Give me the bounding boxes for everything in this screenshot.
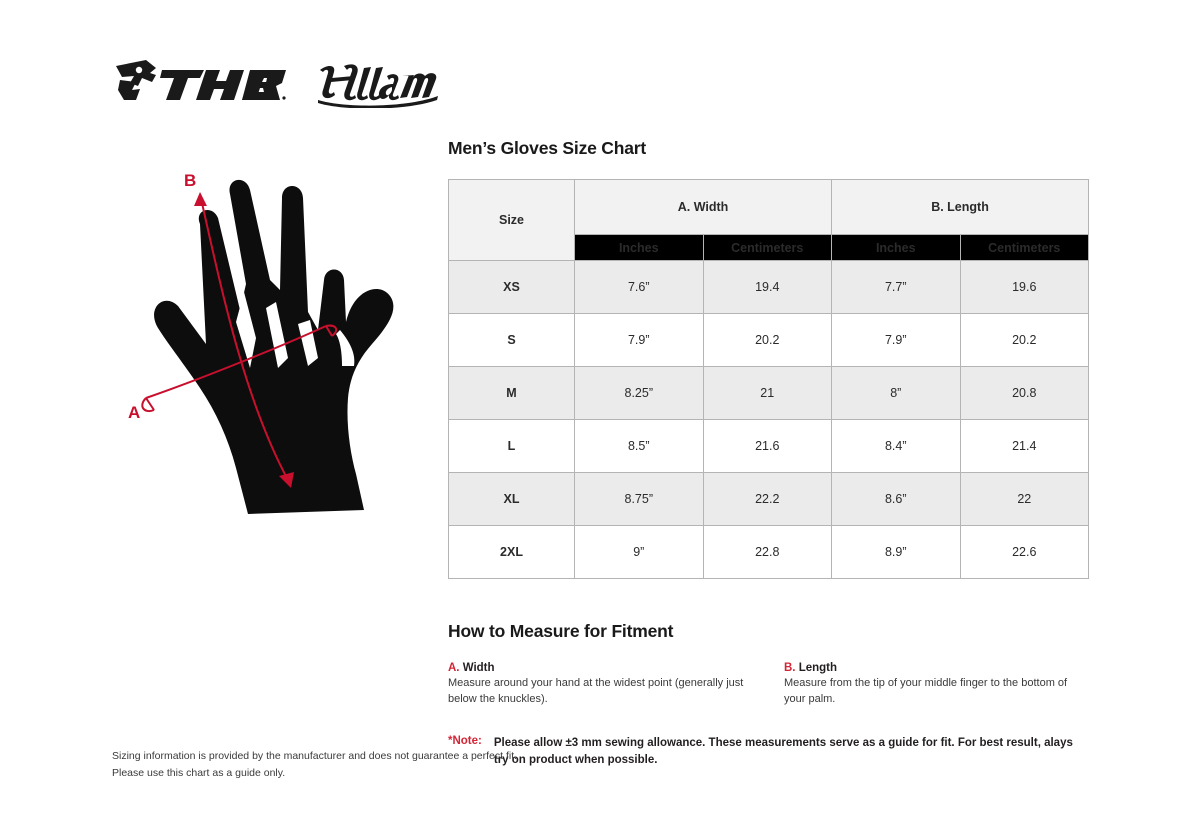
header-width-inches: Inches bbox=[575, 235, 704, 261]
footer-disclaimer: Sizing information is provided by the ma… bbox=[112, 748, 517, 782]
brand-logo-bar bbox=[112, 52, 442, 112]
figure-label-b: B bbox=[184, 171, 196, 190]
cell-length-cm: 22.6 bbox=[960, 526, 1089, 579]
header-length-centimeters: Centimeters bbox=[960, 235, 1089, 261]
how-to-item-width: A. Width Measure around your hand at the… bbox=[448, 662, 752, 707]
header-size: Size bbox=[449, 180, 575, 261]
arrow-b-top bbox=[194, 192, 207, 206]
cell-length-in: 8.6” bbox=[832, 473, 961, 526]
cell-length-cm: 20.2 bbox=[960, 314, 1089, 367]
how-to-width-letter: A. bbox=[448, 662, 460, 674]
table-row: XL 8.75” 22.2 8.6” 22 bbox=[449, 473, 1089, 526]
cell-length-cm: 22 bbox=[960, 473, 1089, 526]
cell-size: XS bbox=[449, 261, 575, 314]
footer-line-1: Sizing information is provided by the ma… bbox=[112, 748, 517, 765]
cell-width-cm: 20.2 bbox=[703, 314, 832, 367]
cell-width-in: 8.75” bbox=[575, 473, 704, 526]
thor-logo bbox=[112, 56, 288, 108]
cell-length-cm: 21.4 bbox=[960, 420, 1089, 473]
table-header-groups: Size A. Width B. Length bbox=[449, 180, 1089, 235]
cell-width-in: 9” bbox=[575, 526, 704, 579]
how-to-width-heading: A. Width bbox=[448, 662, 752, 674]
header-group-width: A. Width bbox=[575, 180, 832, 235]
cell-size: XL bbox=[449, 473, 575, 526]
table-row: L 8.5” 21.6 8.4” 21.4 bbox=[449, 420, 1089, 473]
how-to-width-name: Width bbox=[463, 662, 495, 674]
header-width-centimeters: Centimeters bbox=[703, 235, 832, 261]
cell-width-cm: 19.4 bbox=[703, 261, 832, 314]
table-row: XS 7.6” 19.4 7.7” 19.6 bbox=[449, 261, 1089, 314]
note-block: *Note: Please allow ±3 mm sewing allowan… bbox=[448, 735, 1088, 770]
table-row: 2XL 9” 22.8 8.9” 22.6 bbox=[449, 526, 1089, 579]
how-to-item-length: B. Length Measure from the tip of your m… bbox=[784, 662, 1088, 707]
cell-width-cm: 22.2 bbox=[703, 473, 832, 526]
hand-measurement-diagram: B A bbox=[128, 162, 428, 542]
how-to-length-letter: B. bbox=[784, 662, 796, 674]
note-text: Please allow ±3 mm sewing allowance. The… bbox=[494, 735, 1088, 770]
cell-width-in: 8.25” bbox=[575, 367, 704, 420]
cell-size: L bbox=[449, 420, 575, 473]
table-row: S 7.9” 20.2 7.9” 20.2 bbox=[449, 314, 1089, 367]
cell-size: S bbox=[449, 314, 575, 367]
how-to-measure-section: How to Measure for Fitment A. Width Meas… bbox=[448, 621, 1088, 707]
how-to-length-heading: B. Length bbox=[784, 662, 1088, 674]
cell-length-cm: 20.8 bbox=[960, 367, 1089, 420]
size-chart-content: Men’s Gloves Size Chart Size A. Width B.… bbox=[448, 138, 1088, 770]
cell-width-cm: 22.8 bbox=[703, 526, 832, 579]
header-group-length: B. Length bbox=[832, 180, 1089, 235]
how-to-length-name: Length bbox=[799, 662, 837, 674]
cell-length-in: 8.9” bbox=[832, 526, 961, 579]
how-to-width-description: Measure around your hand at the widest p… bbox=[448, 676, 752, 707]
cell-length-in: 8.4” bbox=[832, 420, 961, 473]
page-title: Men’s Gloves Size Chart bbox=[448, 138, 1088, 159]
footer-line-2: Please use this chart as a guide only. bbox=[112, 765, 517, 782]
size-chart-table: Size A. Width B. Length Inches Centimete… bbox=[448, 179, 1089, 579]
how-to-length-description: Measure from the tip of your middle fing… bbox=[784, 676, 1088, 707]
figure-label-a: A bbox=[128, 403, 140, 422]
cell-size: M bbox=[449, 367, 575, 420]
cell-length-in: 8” bbox=[832, 367, 961, 420]
hand-silhouette bbox=[154, 180, 393, 514]
hallman-logo bbox=[314, 56, 442, 108]
cell-length-in: 7.7” bbox=[832, 261, 961, 314]
cell-width-cm: 21 bbox=[703, 367, 832, 420]
header-length-inches: Inches bbox=[832, 235, 961, 261]
cell-width-cm: 21.6 bbox=[703, 420, 832, 473]
cell-size: 2XL bbox=[449, 526, 575, 579]
how-to-measure-title: How to Measure for Fitment bbox=[448, 621, 1088, 642]
arrow-a-left bbox=[142, 398, 154, 411]
cell-length-cm: 19.6 bbox=[960, 261, 1089, 314]
cell-width-in: 7.9” bbox=[575, 314, 704, 367]
cell-length-in: 7.9” bbox=[832, 314, 961, 367]
cell-width-in: 7.6” bbox=[575, 261, 704, 314]
table-row: M 8.25” 21 8” 20.8 bbox=[449, 367, 1089, 420]
cell-width-in: 8.5” bbox=[575, 420, 704, 473]
